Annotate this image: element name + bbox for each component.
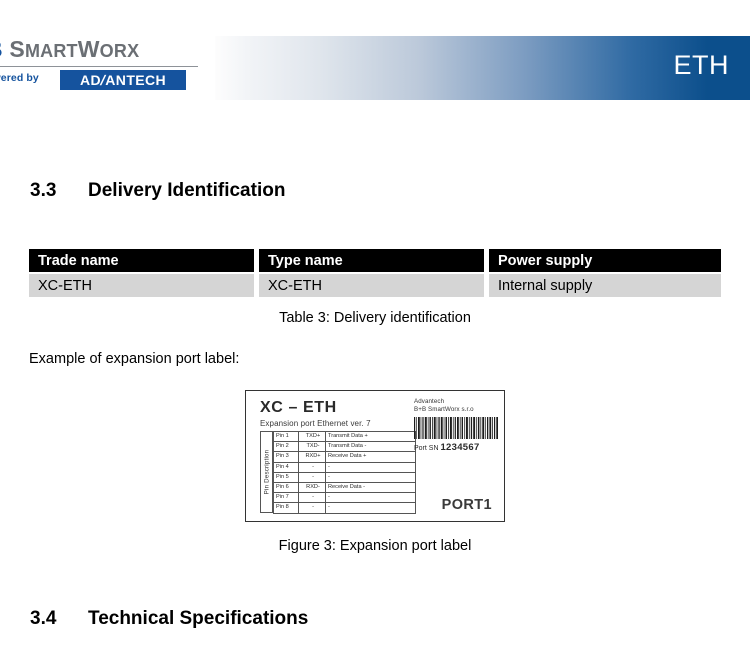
cell-power-supply: Internal supply (489, 274, 721, 297)
pin-number: Pin 3 (274, 452, 299, 462)
pin-description: Transmit Data - (326, 442, 416, 452)
pin-number: Pin 8 (274, 503, 299, 513)
section-heading-technical-specifications: 3.4Technical Specifications (30, 608, 308, 630)
label-barcode-block: Advantech B+B SmartWorx s.r.o (414, 398, 498, 453)
pin-signal: TXD- (299, 442, 326, 452)
pin-signal: RXD- (299, 483, 326, 493)
pin-description: - (326, 462, 416, 472)
pin-signal: - (299, 503, 326, 513)
table-header-row: Trade name Type name Power supply (29, 249, 721, 272)
label-serial-number: Port SN 1234567 (414, 442, 498, 453)
table-header-power-supply: Power supply (489, 249, 721, 272)
pin-description: Receive Data + (326, 452, 416, 462)
pin-row: Pin 8 - - (274, 503, 416, 513)
pin-description: - (326, 493, 416, 503)
label-company-line-2: B+B SmartWorx s.r.o (414, 406, 498, 414)
expansion-port-label-figure: XC – ETH Expansion port Ethernet ver. 7 … (245, 390, 505, 522)
pin-signal: RXD+ (299, 452, 326, 462)
pin-number: Pin 5 (274, 472, 299, 482)
page-title: ETH (674, 50, 730, 81)
pin-description: Receive Data - (326, 483, 416, 493)
pin-row: Pin 1 TXD+ Transmit Data + (274, 432, 416, 442)
cell-type-name: XC-ETH (259, 274, 484, 297)
pin-description: - (326, 472, 416, 482)
figure-caption: Figure 3: Expansion port label (0, 538, 750, 554)
advantech-logo: AD/ANTECH (60, 70, 186, 90)
pin-table-body: Pin 1 TXD+ Transmit Data + Pin 2 TXD- Tr… (274, 432, 416, 514)
pin-description-side-label-text: Pin Description (263, 450, 270, 495)
label-product-subtitle: Expansion port Ethernet ver. 7 (260, 419, 371, 428)
cell-trade-name: XC-ETH (29, 274, 254, 297)
brand-wordmark: B SMARTWORX (0, 36, 139, 63)
pin-signal: - (299, 462, 326, 472)
brand-divider (0, 66, 198, 67)
table-header-type-name: Type name (259, 249, 484, 272)
pin-row: Pin 6 RXD- Receive Data - (274, 483, 416, 493)
page-header: B SMARTWORX owered by AD/ANTECH ETH (0, 36, 750, 100)
brand-wordmark-main: SMARTWORX (3, 36, 139, 62)
table-header-trade-name: Trade name (29, 249, 254, 272)
pin-description: Transmit Data + (326, 432, 416, 442)
pin-number: Pin 2 (274, 442, 299, 452)
pin-description-side-label: Pin Description (260, 431, 273, 513)
example-label-intro-text: Example of expansion port label: (29, 351, 239, 367)
pin-number: Pin 4 (274, 462, 299, 472)
section-title: Technical Specifications (88, 608, 308, 629)
section-heading-delivery-identification: 3.3Delivery Identification (30, 180, 285, 202)
brand-logo: B SMARTWORX owered by AD/ANTECH (0, 36, 216, 100)
pin-row: Pin 4 - - (274, 462, 416, 472)
label-product-title: XC – ETH (260, 399, 337, 417)
pin-row: Pin 7 - - (274, 493, 416, 503)
pin-signal: - (299, 472, 326, 482)
pin-row: Pin 5 - - (274, 472, 416, 482)
pin-signal: - (299, 493, 326, 503)
serial-number-prefix: Port SN (414, 445, 439, 452)
pin-number: Pin 7 (274, 493, 299, 503)
pin-row: Pin 3 RXD+ Receive Data + (274, 452, 416, 462)
pin-number: Pin 6 (274, 483, 299, 493)
brand-powered-by-label: owered by (0, 72, 39, 84)
pin-number: Pin 1 (274, 432, 299, 442)
barcode-icon (414, 417, 498, 439)
section-number: 3.3 (30, 180, 88, 202)
pin-description-block: Pin Description Pin 1 TXD+ Transmit Data… (260, 431, 406, 513)
pin-signal: TXD+ (299, 432, 326, 442)
section-number: 3.4 (30, 608, 88, 630)
table-caption: Table 3: Delivery identification (0, 310, 750, 326)
pin-row: Pin 2 TXD- Transmit Data - (274, 442, 416, 452)
delivery-identification-table: Trade name Type name Power supply XC-ETH… (29, 249, 721, 297)
table-row: XC-ETH XC-ETH Internal supply (29, 274, 721, 297)
pin-description: - (326, 503, 416, 513)
header-gradient-band: ETH (215, 36, 750, 100)
label-company-line-1: Advantech (414, 398, 498, 406)
label-port-badge: PORT1 (442, 497, 492, 513)
serial-number-value: 1234567 (440, 442, 479, 453)
section-title: Delivery Identification (88, 180, 285, 201)
pin-assignment-table: Pin 1 TXD+ Transmit Data + Pin 2 TXD- Tr… (273, 431, 416, 514)
